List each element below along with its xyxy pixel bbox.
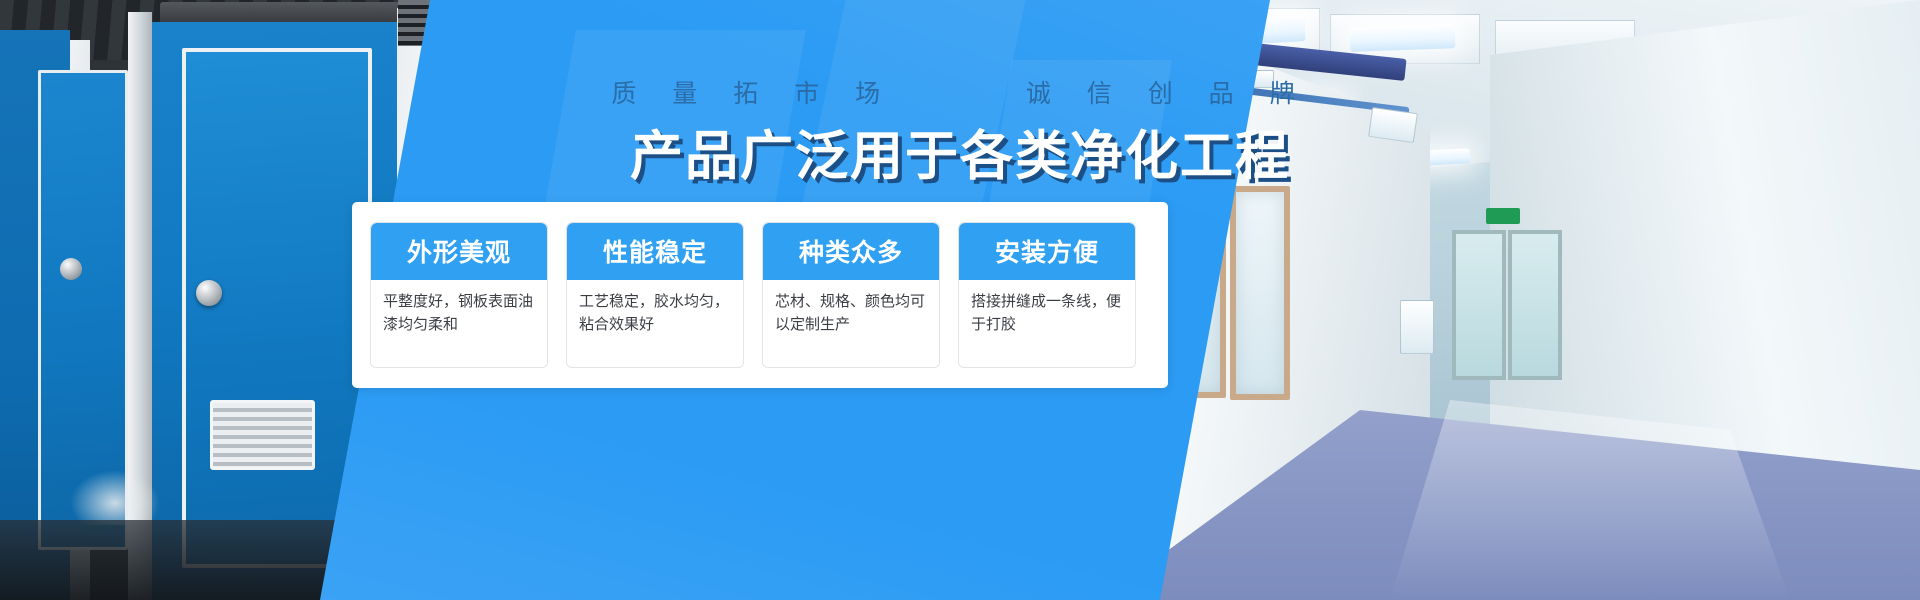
banner-tagline: 质 量 拓 市 场 诚 信 创 品 牌 xyxy=(0,74,1920,110)
feature-card-4-description: 搭接拼缝成一条线，便于打胶 xyxy=(959,280,1135,367)
exit-sign-icon xyxy=(1486,208,1520,224)
feature-card-3-description: 芯材、规格、颜色均可以定制生产 xyxy=(763,280,939,367)
feature-card-1-title: 外形美观 xyxy=(371,223,547,280)
corridor-notice xyxy=(1400,300,1434,354)
feature-card-4-title: 安装方便 xyxy=(959,223,1135,280)
ground-patch xyxy=(70,470,160,525)
double-door-right xyxy=(1508,230,1562,380)
ventilation-louver xyxy=(210,400,315,470)
corridor-door-far xyxy=(1230,186,1290,400)
feature-card-1[interactable]: 外形美观 平整度好，钢板表面油漆均匀柔和 xyxy=(370,222,548,368)
double-door-left xyxy=(1452,230,1506,380)
feature-card-1-description: 平整度好，钢板表面油漆均匀柔和 xyxy=(371,280,547,367)
feature-card-3-title: 种类众多 xyxy=(763,223,939,280)
feature-card-4[interactable]: 安装方便 搭接拼缝成一条线，便于打胶 xyxy=(958,222,1136,368)
ceiling-light xyxy=(1350,24,1456,52)
feature-card-panel: 外形美观 平整度好，钢板表面油漆均匀柔和 性能稳定 工艺稳定，胶水均匀，粘合效果… xyxy=(352,202,1168,388)
floor-reflection xyxy=(1390,400,1790,600)
promo-banner: 质 量 拓 市 场 诚 信 创 品 牌 产品广泛用于各类净化工程 外形美观 平整… xyxy=(0,0,1920,600)
feature-card-2-description: 工艺稳定，胶水均匀，粘合效果好 xyxy=(567,280,743,367)
door-handle-icon xyxy=(196,280,222,306)
door-lock-icon xyxy=(60,258,82,280)
feature-card-2[interactable]: 性能稳定 工艺稳定，胶水均匀，粘合效果好 xyxy=(566,222,744,368)
banner-headline: 产品广泛用于各类净化工程 xyxy=(0,114,1920,190)
feature-card-3[interactable]: 种类众多 芯材、规格、颜色均可以定制生产 xyxy=(762,222,940,368)
feature-card-2-title: 性能稳定 xyxy=(567,223,743,280)
